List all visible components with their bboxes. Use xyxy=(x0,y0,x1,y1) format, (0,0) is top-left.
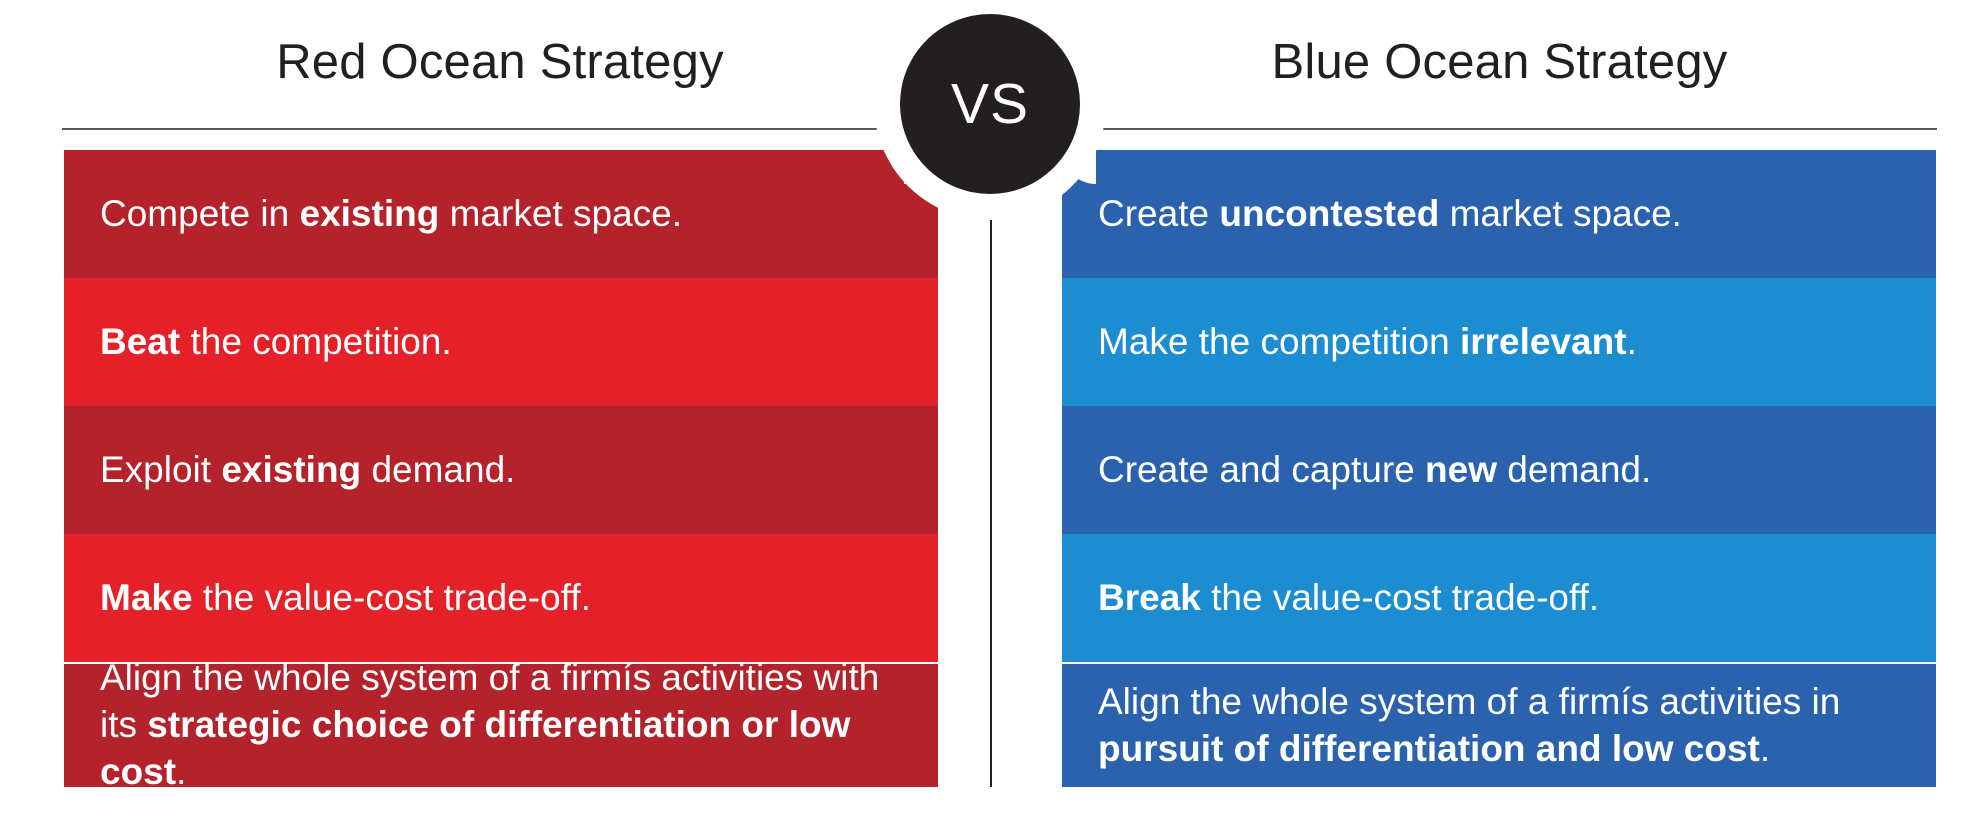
blue-row-3-bold: new xyxy=(1425,449,1497,490)
red-row-1: Compete in existing market space. xyxy=(64,150,938,278)
red-row-5-bold: strategic choice of differentiation or l… xyxy=(100,704,850,787)
blue-ocean-column: Create uncontested market space. Make th… xyxy=(1062,150,1936,787)
red-row-2-text: Beat the competition. xyxy=(64,319,472,366)
red-row-1-text: Compete in existing market space. xyxy=(64,191,702,238)
blue-row-2-bold: irrelevant xyxy=(1460,321,1627,362)
blue-row-4: Break the value-cost trade-off. xyxy=(1062,534,1936,662)
blue-column-title: Blue Ocean Strategy xyxy=(1062,34,1937,90)
vs-badge: VS xyxy=(900,14,1080,194)
red-row-3-post: demand. xyxy=(361,449,515,490)
blue-row-1-pre: Create xyxy=(1098,193,1219,234)
red-row-2: Beat the competition. xyxy=(64,278,938,406)
red-column-title: Red Ocean Strategy xyxy=(62,34,938,90)
blue-row-3-pre: Create and capture xyxy=(1098,449,1425,490)
blue-row-2-pre: Make the competition xyxy=(1098,321,1460,362)
red-row-1-post: market space. xyxy=(439,193,682,234)
red-row-1-pre: Compete in xyxy=(100,193,300,234)
blue-row-2-text: Make the competition irrelevant. xyxy=(1062,319,1657,366)
red-row-5-text: Align the whole system of a firmís activ… xyxy=(64,662,938,787)
blue-row-5: Align the whole system of a firmís activ… xyxy=(1062,662,1936,787)
red-row-2-bold: Beat xyxy=(100,321,180,362)
blue-row-5-text: Align the whole system of a firmís activ… xyxy=(1062,679,1936,773)
blue-row-3-text: Create and capture new demand. xyxy=(1062,447,1671,494)
blue-row-1-post: market space. xyxy=(1439,193,1682,234)
blue-row-1-text: Create uncontested market space. xyxy=(1062,191,1702,238)
red-row-5-post: . xyxy=(176,751,186,787)
red-row-3: Exploit existing demand. xyxy=(64,406,938,534)
blue-row-3: Create and capture new demand. xyxy=(1062,406,1936,534)
red-row-4-text: Make the value-cost trade-off. xyxy=(64,575,611,622)
blue-row-4-bold: Break xyxy=(1098,577,1201,618)
red-title-divider xyxy=(62,128,938,130)
red-row-3-bold: existing xyxy=(221,449,361,490)
blue-row-4-text: Break the value-cost trade-off. xyxy=(1062,575,1619,622)
red-ocean-column: Compete in existing market space. Beat t… xyxy=(64,150,938,787)
blue-row-5-post: . xyxy=(1760,728,1770,769)
blue-row-3-post: demand. xyxy=(1497,449,1651,490)
blue-row-2: Make the competition irrelevant. xyxy=(1062,278,1936,406)
blue-row-5-bold: pursuit of differentiation and low cost xyxy=(1098,728,1760,769)
blue-row-5-pre: Align the whole system of a firmís activ… xyxy=(1098,681,1840,722)
vs-badge-label: VS xyxy=(951,76,1029,133)
center-divider-line xyxy=(990,170,992,787)
red-row-4-bold: Make xyxy=(100,577,193,618)
red-row-4: Make the value-cost trade-off. xyxy=(64,534,938,662)
comparison-infographic: Red Ocean Strategy Blue Ocean Strategy C… xyxy=(0,0,1980,830)
blue-title-divider xyxy=(1062,128,1937,130)
red-row-2-post: the competition. xyxy=(180,321,451,362)
red-row-5: Align the whole system of a firmís activ… xyxy=(64,662,938,787)
blue-row-2-post: . xyxy=(1627,321,1637,362)
red-row-1-bold: existing xyxy=(300,193,440,234)
blue-row-4-post: the value-cost trade-off. xyxy=(1201,577,1599,618)
blue-row-1: Create uncontested market space. xyxy=(1062,150,1936,278)
blue-row-1-bold: uncontested xyxy=(1219,193,1439,234)
red-row-3-text: Exploit existing demand. xyxy=(64,447,535,494)
red-row-4-post: the value-cost trade-off. xyxy=(193,577,591,618)
red-row-3-pre: Exploit xyxy=(100,449,221,490)
